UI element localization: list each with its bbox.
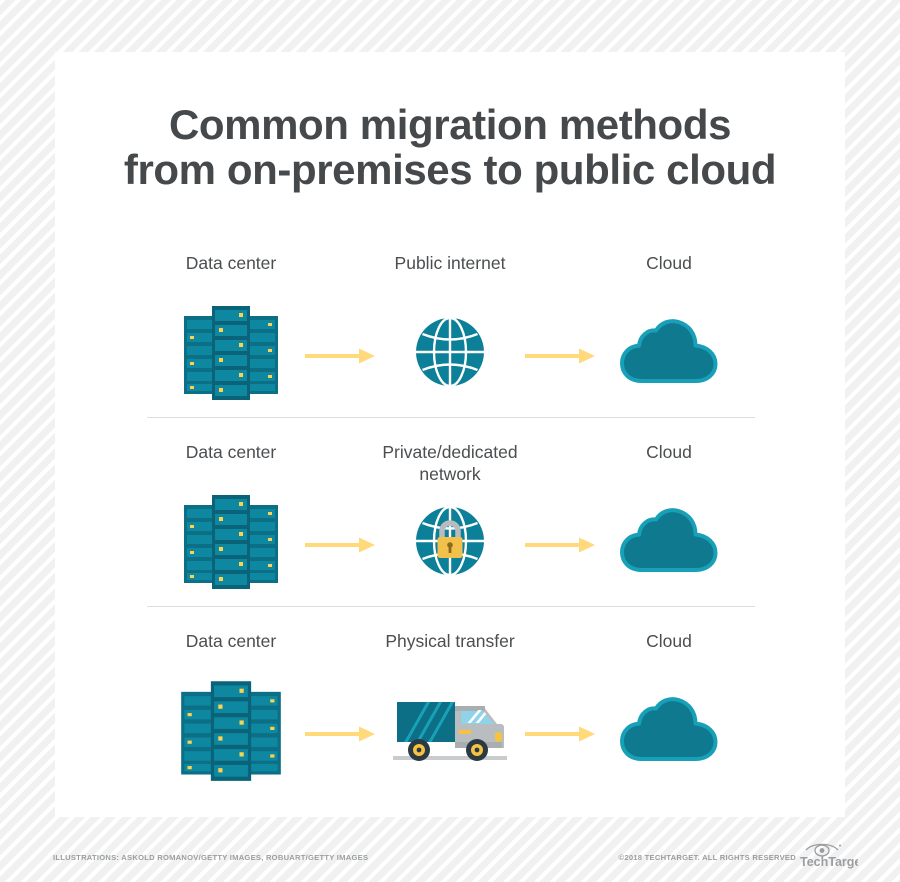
row2-destination-label: Cloud [559, 441, 779, 463]
migration-row-public-internet: Data center [55, 252, 845, 432]
row1-destination-label: Cloud [559, 252, 779, 274]
row1-transport-column: Public internet [340, 252, 560, 274]
footer: ILLUSTRATIONS: ASKOLD ROMANOV/GETTY IMAG… [0, 817, 900, 882]
cloud-icon [559, 670, 779, 790]
cloud-icon [559, 481, 779, 601]
row3-transport-label: Physical transfer [340, 630, 560, 652]
row1-source-label: Data center [121, 252, 341, 274]
row1-destination-column: Cloud [559, 252, 779, 274]
migration-row-physical-transfer: Data center [55, 630, 845, 810]
row2-transport-label: Private/dedicated network [340, 441, 560, 485]
migration-row-private-network: Data center [55, 441, 845, 621]
page-title: Common migration methods from on-premise… [55, 102, 845, 192]
cloud-icon [559, 292, 779, 412]
row3-transport-column: Physical transfer [340, 630, 560, 652]
row1-transport-label: Public internet [340, 252, 560, 274]
row3-destination-label: Cloud [559, 630, 779, 652]
row3-destination-column: Cloud [559, 630, 779, 652]
row3-source-column: Data center [121, 630, 341, 652]
techtarget-logo: TechTarget [800, 839, 858, 871]
infographic-card: Common migration methods from on-premise… [55, 52, 845, 817]
title-line-2: from on-premises to public cloud [55, 147, 845, 192]
copyright-notice: ©2018 TECHTARGET. ALL RIGHTS RESERVED [619, 853, 796, 862]
svg-text:TechTarget: TechTarget [800, 855, 858, 869]
row1-source-column: Data center [121, 252, 341, 274]
row2-destination-column: Cloud [559, 441, 779, 463]
title-line-1: Common migration methods [55, 102, 845, 147]
row2-source-column: Data center [121, 441, 341, 463]
illustration-credit: ILLUSTRATIONS: ASKOLD ROMANOV/GETTY IMAG… [53, 853, 368, 862]
row2-transport-column: Private/dedicated network [340, 441, 560, 485]
row2-source-label: Data center [121, 441, 341, 463]
row3-source-label: Data center [121, 630, 341, 652]
